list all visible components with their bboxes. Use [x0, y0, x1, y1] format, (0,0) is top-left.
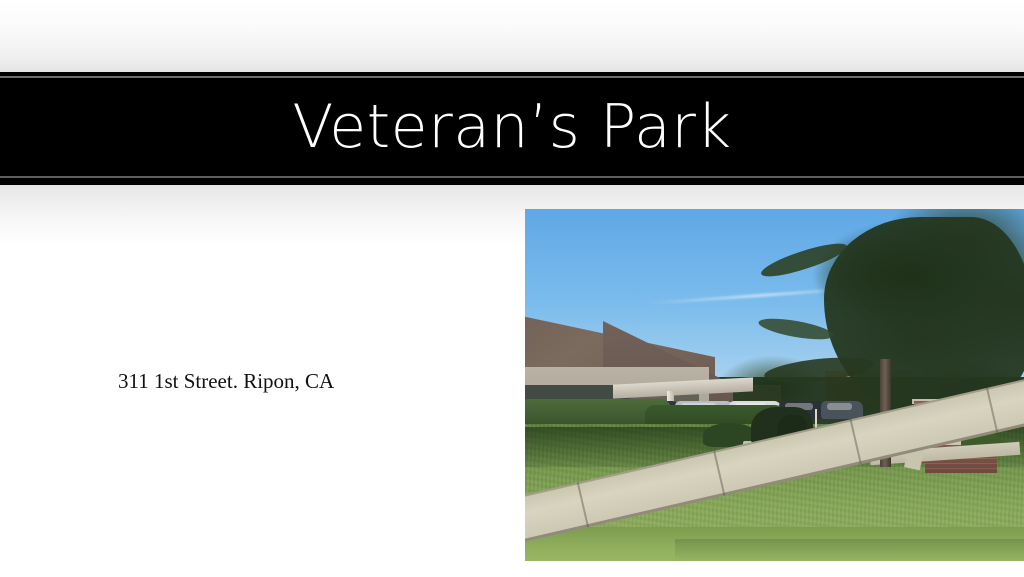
slide: Veteran’s Park 311 1st Street. Ripon, CA — [0, 0, 1024, 577]
sidewalk-seam — [713, 451, 725, 496]
park-photo-inner — [525, 209, 1024, 561]
canopy-shadow — [775, 209, 1024, 339]
sidewalk-seam — [850, 419, 862, 464]
title-banner: Veteran’s Park — [0, 72, 1024, 185]
sidewalk-seam — [577, 482, 589, 527]
background-gradient-top — [0, 0, 1024, 74]
sidewalk-seam — [986, 388, 998, 433]
banner-rule-bottom — [0, 178, 1024, 185]
car-window — [827, 403, 852, 410]
slide-title: Veteran’s Park — [0, 78, 1024, 176]
foreground-grass-shadow — [675, 539, 1024, 561]
slide-body-text: 311 1st Street. Ripon, CA — [118, 368, 498, 395]
park-photo — [525, 209, 1024, 561]
parked-car — [821, 401, 863, 419]
